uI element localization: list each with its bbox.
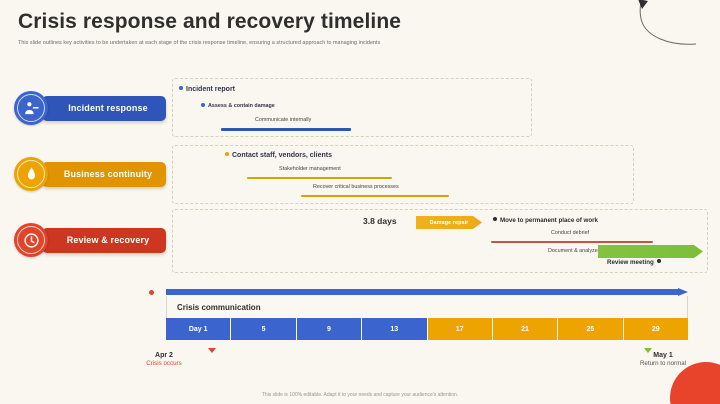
- phase-change-marker: [208, 348, 216, 353]
- task-contact-staff-vendors-clients[interactable]: Contact staff, vendors, clients: [225, 152, 332, 159]
- task-communicate-internally-label[interactable]: Communicate internally: [255, 117, 311, 123]
- task-recover-critical-business-processes-label[interactable]: Recover critical business processes: [313, 184, 399, 190]
- gantt-cell[interactable]: 13: [362, 318, 427, 340]
- gantt-bar-label: Crisis communication: [166, 296, 688, 318]
- task-move-to-permanent-place-of-work[interactable]: Move to permanent place of work: [493, 217, 598, 224]
- category-list: Incident response Business continuity Re…: [14, 86, 166, 284]
- start-marker-label: Apr 2 Crisis occurs: [128, 352, 200, 367]
- page-subtitle: This slide outlines key activities to be…: [18, 40, 660, 46]
- review-recovery-icon: [14, 223, 48, 257]
- task-incident-report[interactable]: Incident report: [179, 86, 235, 93]
- bar-stakeholder-management[interactable]: [247, 177, 392, 179]
- end-marker-label: May 1 Return to normal: [620, 352, 706, 367]
- bar-recover-critical-business-processes[interactable]: [301, 195, 449, 197]
- incident-response-lane: Incident report Assess & contain damage …: [172, 78, 532, 137]
- slide-footer: This slide is 100% editable. Adapt it to…: [0, 392, 720, 398]
- gantt-cell[interactable]: 9: [297, 318, 362, 340]
- gantt-cells: Day 1 5 9 13 17 21 25 29: [166, 318, 688, 340]
- bar-conduct-debrief[interactable]: [491, 241, 653, 243]
- bullet-dot-icon: [179, 86, 183, 90]
- duration-label: 3.8 days: [363, 216, 397, 226]
- category-label-business-continuity: Business continuity: [42, 162, 166, 187]
- chevron-document-analyze[interactable]: [598, 245, 703, 258]
- bullet-dot-icon: [657, 259, 661, 263]
- task-conduct-debrief-label[interactable]: Conduct debrief: [551, 230, 589, 236]
- business-continuity-icon: [14, 157, 48, 191]
- bullet-dot-icon: [493, 217, 497, 221]
- chevron-damage-repair[interactable]: Damage repair: [416, 216, 482, 229]
- bullet-dot-icon: [225, 152, 229, 156]
- task-document-analyze-label[interactable]: Document & analyze: [548, 248, 598, 254]
- category-label-incident-response: Incident response: [42, 96, 166, 121]
- gantt-cell[interactable]: 17: [428, 318, 493, 340]
- page-title: Crisis response and recovery timeline: [18, 10, 660, 33]
- category-incident-response[interactable]: Incident response: [14, 86, 166, 130]
- crisis-communication-bar[interactable]: [166, 288, 688, 296]
- review-recovery-lane: 3.8 days Damage repair Move to permanent…: [172, 209, 708, 273]
- slide-canvas: Crisis response and recovery timeline Th…: [0, 0, 720, 404]
- gantt-cell[interactable]: Day 1: [166, 318, 231, 340]
- slide-header: Crisis response and recovery timeline Th…: [18, 10, 660, 47]
- category-business-continuity[interactable]: Business continuity: [14, 152, 166, 196]
- bar-communicate-internally[interactable]: [221, 128, 351, 131]
- incident-response-icon: [14, 91, 48, 125]
- category-review-recovery[interactable]: Review & recovery: [14, 218, 166, 262]
- gantt-chart: Crisis communication Day 1 5 9 13 17 21 …: [166, 288, 688, 340]
- gantt-cell[interactable]: 29: [624, 318, 688, 340]
- task-stakeholder-management-label[interactable]: Stakeholder management: [279, 166, 341, 172]
- gantt-cell[interactable]: 21: [493, 318, 558, 340]
- category-label-review-recovery: Review & recovery: [42, 228, 166, 253]
- gantt-cell[interactable]: 25: [558, 318, 623, 340]
- bullet-dot-icon: [201, 103, 205, 107]
- gantt-cell[interactable]: 5: [231, 318, 296, 340]
- business-continuity-lane: Contact staff, vendors, clients Stakehol…: [172, 145, 634, 204]
- task-review-meeting[interactable]: Review meeting: [607, 259, 661, 266]
- start-marker-dot: [149, 290, 154, 295]
- arrow-head-icon: [678, 288, 688, 296]
- task-assess-contain-damage[interactable]: Assess & contain damage: [201, 103, 275, 109]
